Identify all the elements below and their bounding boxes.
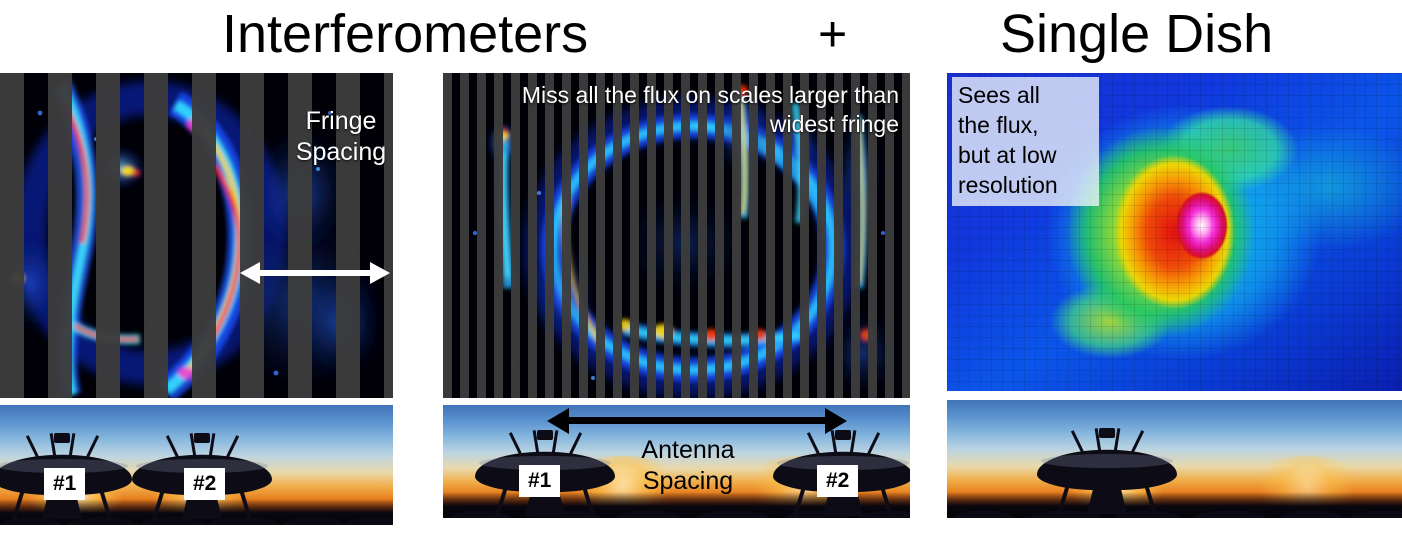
sky-image-long-spacing: Miss all the flux on scales larger than … <box>443 73 910 398</box>
single-dish-galaxy-image: Sees all the flux, but at low resolution <box>947 73 1402 391</box>
arrow-shaft <box>256 270 374 276</box>
antenna-spacing-line2: Spacing <box>593 466 783 497</box>
sees-line2: the flux, <box>958 110 1093 140</box>
title-interferometers: Interferometers <box>222 0 588 70</box>
miss-flux-caption: Miss all the flux on scales larger than … <box>499 81 899 139</box>
column-interferometer-long: Miss all the flux on scales larger than … <box>443 73 910 518</box>
sees-all-flux-caption: Sees all the flux, but at low resolution <box>952 77 1099 206</box>
arrow-right-head <box>370 262 390 284</box>
telescope-image-long-spacing: #1 #2 Antenna Spacing <box>443 405 910 518</box>
column-single-dish: Sees all the flux, but at low resolution <box>947 73 1402 518</box>
fringe-spacing-arrow-icon <box>240 261 390 285</box>
telescope-image-single-dish <box>947 400 1402 518</box>
title-plus-symbol: + <box>818 0 847 70</box>
antenna-label-1: #1 <box>44 468 85 500</box>
antenna-spacing-caption: Antenna Spacing <box>593 435 783 497</box>
sky-image-short-spacing: Fringe Spacing <box>0 73 393 398</box>
feed-horn <box>1099 428 1115 438</box>
fringe-spacing-caption: Fringe Spacing <box>293 106 389 168</box>
fringe-spacing-line1: Fringe <box>293 106 389 137</box>
column-interferometer-short: Fringe Spacing #1 <box>0 73 393 525</box>
arrow-shaft <box>565 417 829 424</box>
fringe-spacing-line2: Spacing <box>293 137 389 168</box>
sees-line1: Sees all <box>958 80 1093 110</box>
arrow-right-head <box>825 408 847 434</box>
telescope-image-short-spacing: #1 #2 <box>0 405 393 525</box>
title-row: Interferometers + Single Dish <box>0 0 1402 72</box>
title-single-dish: Single Dish <box>1000 0 1273 70</box>
sees-line3: but at low <box>958 140 1093 170</box>
antenna-spacing-line1: Antenna <box>593 435 783 466</box>
feed-horn <box>194 433 210 443</box>
feed-horn <box>54 433 70 443</box>
dish-rim <box>1041 454 1173 468</box>
antenna-dish-single <box>1037 422 1177 514</box>
antenna-label-2: #2 <box>184 468 225 500</box>
antenna-spacing-arrow-icon <box>547 408 847 434</box>
antenna-label-1: #1 <box>519 465 560 497</box>
sees-line4: resolution <box>958 170 1093 200</box>
antenna-label-2: #2 <box>817 465 858 497</box>
